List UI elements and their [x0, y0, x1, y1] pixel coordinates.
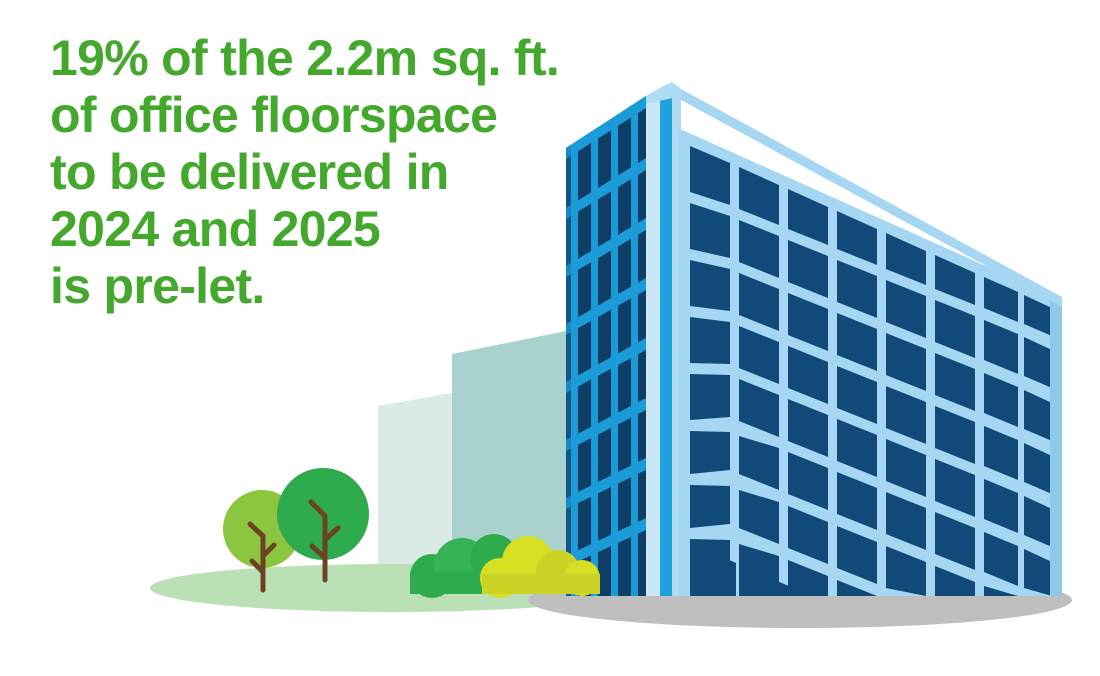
infographic-canvas: 19% of the 2.2m sq. ft. of office floors… — [0, 0, 1100, 676]
page-headline: 19% of the 2.2m sq. ft. of office floors… — [50, 30, 670, 315]
tree-dark-green — [277, 468, 369, 580]
